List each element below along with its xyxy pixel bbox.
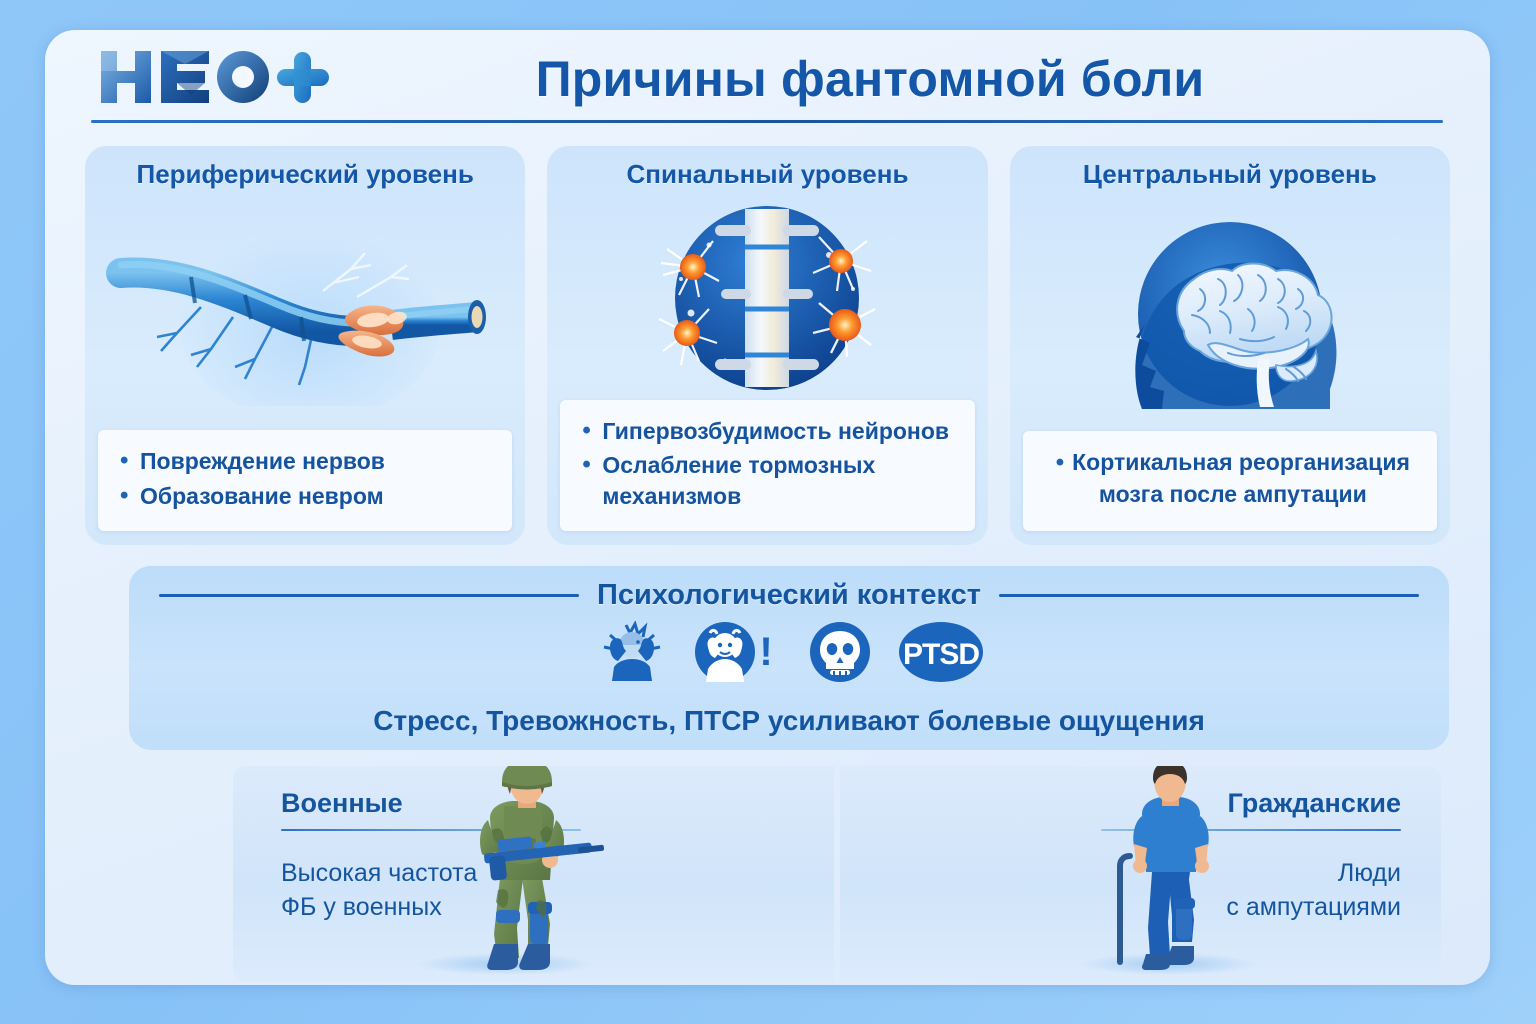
damaged-nerve-icon <box>105 221 505 406</box>
psychological-context-panel: Психологический контекст <box>129 565 1449 750</box>
brain-illustration <box>1010 196 1450 431</box>
spine-illustration <box>547 196 987 400</box>
soldier-figure <box>438 766 628 977</box>
exclamation-mark: ! <box>759 630 772 674</box>
levels-columns: Периферический уровень <box>85 145 1450 545</box>
groups-row: Военные Высокая частота ФБ у военных <box>233 766 1441 981</box>
brain-head-icon <box>1080 219 1380 409</box>
bullet-box-central: Кортикальная реорганизация мозга после а… <box>1023 431 1437 531</box>
bullet-item: Гипервозбудимость нейронов <box>578 416 962 446</box>
column-central[interactable]: Центральный уровень <box>1010 145 1450 545</box>
soldier-with-prosthetic-leg-icon <box>438 766 628 972</box>
ptsd-label: PTSD <box>903 638 979 671</box>
bullet-item: Кортикальная реорганизация мозга после а… <box>1041 447 1425 509</box>
civilian-with-cane-icon <box>1096 766 1246 972</box>
nerve-illustration <box>85 196 525 430</box>
psych-heading: Психологический контекст <box>597 579 981 612</box>
skull-icon[interactable] <box>804 621 876 683</box>
neo-plus-logo-icon <box>95 47 330 109</box>
bullet-box-peripheral: Повреждение нервов Образование невром <box>98 430 512 531</box>
heading-rule-left <box>159 594 579 597</box>
column-title: Спинальный уровень <box>627 159 909 190</box>
bullet-item: Повреждение нервов <box>116 446 500 476</box>
column-title: Центральный уровень <box>1083 159 1377 190</box>
column-peripheral[interactable]: Периферический уровень <box>85 145 525 545</box>
heading-rule-right <box>999 594 1419 597</box>
ptsd-badge-icon[interactable]: PTSD <box>898 621 984 683</box>
column-title: Периферический уровень <box>137 159 474 190</box>
psych-caption: Стресс, Тревожность, ПТСР усиливают боле… <box>129 705 1449 737</box>
psych-icon-row: ! PTSD <box>129 621 1449 683</box>
bullet-box-spinal: Гипервозбудимость нейронов Ослабление то… <box>560 400 974 531</box>
bullet-item: Образование невром <box>116 481 500 511</box>
page-title: Причины фантомной боли <box>345 50 1395 108</box>
anxious-person-exclamation-icon[interactable]: ! <box>694 621 782 683</box>
group-panel-civilian[interactable]: Гражданские Люди с ампутациями <box>840 766 1441 981</box>
header-divider <box>91 120 1443 123</box>
bullet-item: Ослабление тормозных механизмов <box>578 450 962 511</box>
group-panel-military[interactable]: Военные Высокая частота ФБ у военных <box>233 766 834 981</box>
infographic-card: Причины фантомной боли Периферический ур… <box>45 30 1490 985</box>
column-spinal[interactable]: Спинальный уровень <box>547 145 987 545</box>
header: Причины фантомной боли <box>45 30 1490 122</box>
brand-logo <box>95 48 330 108</box>
stressed-person-icon[interactable] <box>594 621 672 683</box>
psych-heading-row: Психологический контекст <box>129 579 1449 612</box>
spinal-neurons-icon <box>617 203 917 393</box>
civilian-figure <box>1096 766 1246 977</box>
